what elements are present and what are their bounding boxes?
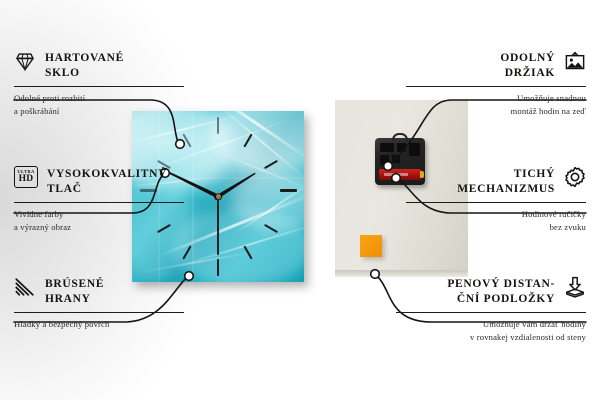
- feature-high-quality-print: ultra HD VYSOKOKVALITNÝ TLAČ Vivídne far…: [14, 166, 184, 233]
- feature-durable-hanger: ODOLNÝ DRŽIAK Umožňuje snadnou montáž ho…: [406, 50, 586, 117]
- feature-divider: [396, 312, 586, 313]
- feature-heading: PENOVÝ DISTAN- ČNÍ PODLOŽKY: [396, 276, 586, 307]
- feature-title-line-1: ODOLNÝ: [500, 52, 555, 64]
- feature-subtitle: Umožňuje vám držať hodiny v rovnakej vzd…: [396, 318, 586, 342]
- mechanism-hook-icon: [392, 133, 408, 141]
- infographic-stage: HARTOVANÉ SKLO Odolné proti rozbití a po…: [0, 0, 600, 400]
- second-hand: [217, 193, 219, 255]
- feature-sub-line-1: Odolné proti rozbití: [14, 93, 85, 103]
- feature-title-line-2: HRANY: [45, 293, 91, 305]
- feature-title-line-1: HARTOVANÉ: [45, 52, 124, 64]
- feature-sub-line-2: v rovnakej vzdialenosti od steny: [470, 332, 586, 342]
- feature-title-line-2: MECHANIZMUS: [457, 183, 555, 195]
- feature-heading: HARTOVANÉ SKLO: [14, 50, 184, 81]
- feature-subtitle: Hladký a bezpečný povrch: [14, 318, 184, 330]
- feature-silent-mechanism: TICHÝ MECHANIZMUS Hodinové ručičky bez z…: [406, 166, 586, 233]
- feature-title-line-1: TICHÝ: [514, 168, 555, 180]
- feature-sub-line-1: Umožňuje snadnou: [517, 93, 586, 103]
- feature-sub-line-2: montáž hodin na zeď: [511, 106, 586, 116]
- feature-title-line-1: PENOVÝ DISTAN-: [447, 278, 555, 290]
- feature-subtitle: Odolné proti rozbití a poškrábání: [14, 92, 184, 116]
- feature-divider: [14, 202, 184, 203]
- gear-icon: [564, 166, 586, 188]
- feature-subtitle: Umožňuje snadnou montáž hodin na zeď: [406, 92, 586, 116]
- feature-divider: [406, 202, 586, 203]
- feature-beveled-edges: BRÚSENÉ HRANY Hladký a bezpečný povrch: [14, 276, 184, 331]
- feature-sub-line-2: a poškrábání: [14, 106, 59, 116]
- feature-title-line-2: DRŽIAK: [505, 67, 555, 79]
- feature-title-line-1: VYSOKOKVALITNÝ: [47, 168, 167, 180]
- feature-sub-line-1: Umožňuje vám držať hodiny: [483, 319, 586, 329]
- diamond-icon: [14, 50, 36, 72]
- feature-title-line-1: BRÚSENÉ: [45, 278, 104, 290]
- foam-spacer-pad: [360, 235, 382, 257]
- feature-sub-line-1: Vivídne farby: [14, 209, 63, 219]
- feature-title-line-2: TLAČ: [47, 183, 82, 195]
- badge-large-text: HD: [19, 175, 34, 185]
- feature-sub-line-2: a výrazný obraz: [14, 222, 71, 232]
- ultra-hd-badge-icon: ultra HD: [14, 166, 38, 188]
- feature-divider: [406, 86, 586, 87]
- feature-subtitle: Vivídne farby a výrazný obraz: [14, 208, 184, 232]
- feature-heading: ODOLNÝ DRŽIAK: [406, 50, 586, 81]
- feature-sub-line-2: bez zvuku: [550, 222, 586, 232]
- feature-subtitle: Hodinové ručičky bez zvuku: [406, 208, 586, 232]
- beveled-edge-icon: [14, 276, 36, 298]
- feature-tempered-glass: HARTOVANÉ SKLO Odolné proti rozbití a po…: [14, 50, 184, 117]
- clock-center-pin: [216, 194, 221, 199]
- feature-foam-spacers: PENOVÝ DISTAN- ČNÍ PODLOŽKY Umožňuje vám…: [396, 276, 586, 343]
- feature-divider: [14, 86, 184, 87]
- feature-title-line-2: SKLO: [45, 67, 80, 79]
- feature-heading: BRÚSENÉ HRANY: [14, 276, 184, 307]
- feature-divider: [14, 312, 184, 313]
- feature-heading: TICHÝ MECHANIZMUS: [406, 166, 586, 197]
- feature-title-line-2: ČNÍ PODLOŽKY: [457, 293, 555, 305]
- wall-hanger-icon: [564, 50, 586, 72]
- foam-spacer-icon: [564, 276, 586, 298]
- feature-sub-line-1: Hodinové ručičky: [522, 209, 586, 219]
- feature-sub-line-1: Hladký a bezpečný povrch: [14, 319, 109, 329]
- feature-heading: ultra HD VYSOKOKVALITNÝ TLAČ: [14, 166, 184, 197]
